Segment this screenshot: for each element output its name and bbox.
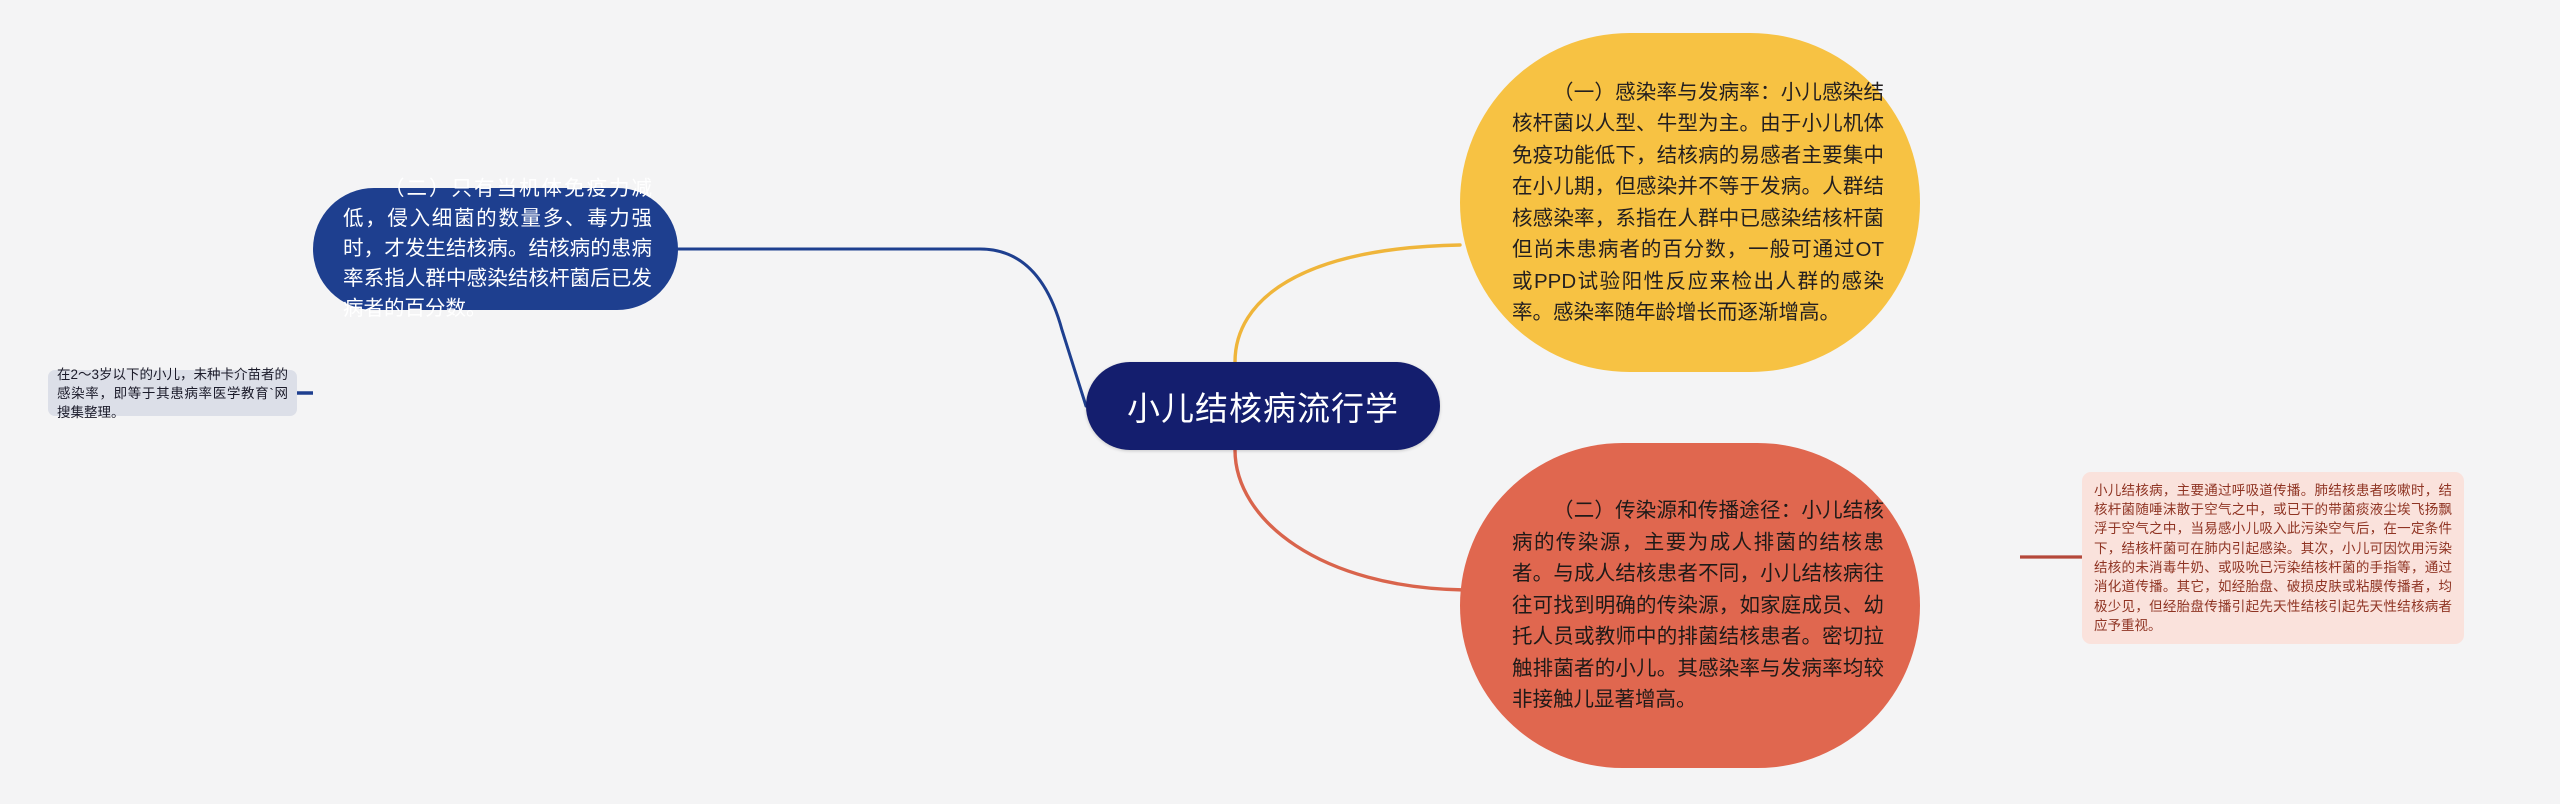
branch-node-blue-text: （二）只有当机体免疫力减低，侵入细菌的数量多、毒力强时，才发生结核病。结核病的患…: [343, 174, 652, 324]
leaf-note-gray[interactable]: 在2～3岁以下的小儿，未种卡介苗者的感染率，即等于其患病率医学教育`网搜集整理。: [48, 370, 297, 416]
branch-node-red[interactable]: （二）传染源和传播途径：小儿结核病的传染源，主要为成人排菌的结核患者。与成人结核…: [1460, 443, 1920, 768]
leaf-note-pink-text: 小儿结核病，主要通过呼吸道传播。肺结核患者咳嗽时，结核杆菌随唾沫散于空气之中，或…: [2094, 481, 2452, 635]
connector-root-red: [1235, 450, 1465, 590]
branch-node-yellow-text: （一）感染率与发病率：小儿感染结核杆菌以人型、牛型为主。由于小儿机体免疫功能低下…: [1512, 77, 1884, 329]
connector-root-blue: [678, 249, 1086, 406]
branch-node-blue[interactable]: （二）只有当机体免疫力减低，侵入细菌的数量多、毒力强时，才发生结核病。结核病的患…: [313, 188, 678, 310]
leaf-note-gray-text: 在2～3岁以下的小儿，未种卡介苗者的感染率，即等于其患病率医学教育`网搜集整理。: [57, 365, 288, 422]
mindmap-canvas: 在2～3岁以下的小儿，未种卡介苗者的感染率，即等于其患病率医学教育`网搜集整理。…: [0, 0, 2560, 804]
root-node[interactable]: 小儿结核病流行学: [1086, 362, 1440, 450]
branch-node-red-text: （二）传染源和传播途径：小儿结核病的传染源，主要为成人排菌的结核患者。与成人结核…: [1512, 495, 1884, 716]
branch-node-yellow[interactable]: （一）感染率与发病率：小儿感染结核杆菌以人型、牛型为主。由于小儿机体免疫功能低下…: [1460, 33, 1920, 372]
leaf-note-pink[interactable]: 小儿结核病，主要通过呼吸道传播。肺结核患者咳嗽时，结核杆菌随唾沫散于空气之中，或…: [2082, 472, 2464, 644]
root-node-label: 小儿结核病流行学: [1127, 382, 1399, 430]
connector-root-yellow: [1235, 245, 1460, 362]
